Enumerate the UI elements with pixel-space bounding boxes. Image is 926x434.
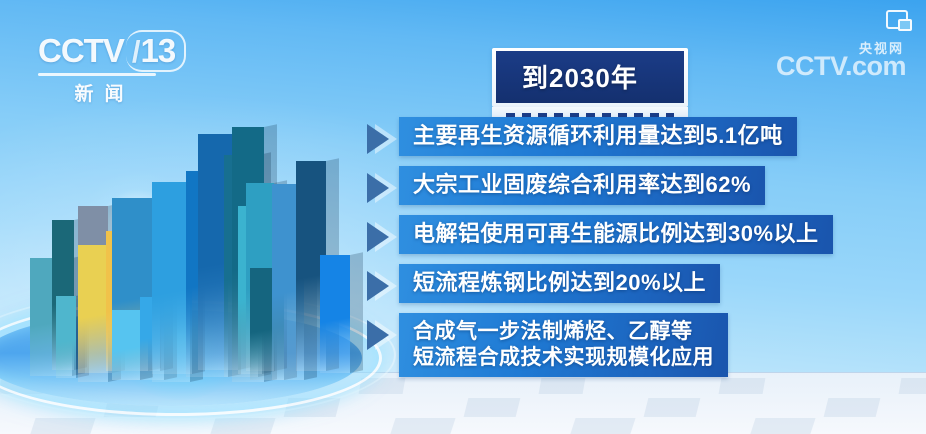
bullet-text: 合成气一步法制烯烃、乙醇等 bbox=[413, 319, 714, 345]
bullet-text: 大宗工业固废综合利用率达到62% bbox=[413, 172, 751, 198]
arrow-right-glyph bbox=[367, 271, 389, 301]
3d-city-graphic bbox=[0, 150, 400, 434]
bullet-row[interactable]: 主要再生资源循环利用量达到5.1亿吨 bbox=[363, 117, 903, 160]
bullet-row[interactable]: 合成气一步法制烯烃、乙醇等短流程合成技术实现规模化应用 bbox=[363, 313, 903, 377]
cctv-com-wordmark: CCTV.com bbox=[776, 51, 906, 82]
bullet-row[interactable]: 短流程炼钢比例达到20%以上 bbox=[363, 264, 903, 307]
floor-tile bbox=[748, 418, 815, 434]
arrow-right-glyph bbox=[367, 173, 389, 203]
building-side bbox=[350, 252, 363, 373]
bullet-row[interactable]: 电解铝使用可再生能源比例达到30%以上 bbox=[363, 215, 903, 258]
logo-underline bbox=[38, 73, 156, 76]
bullet-bar[interactable]: 短流程炼钢比例达到20%以上 bbox=[399, 264, 720, 303]
title-banner: 到2030年 bbox=[492, 48, 688, 120]
bullet-text: 主要再生资源循环利用量达到5.1亿吨 bbox=[413, 123, 783, 149]
channel-subtitle: 新闻 bbox=[38, 79, 160, 106]
banner-title: 到2030年 bbox=[522, 58, 658, 95]
cctv13-channel-logo: CCTV /13 新闻 bbox=[38, 30, 198, 96]
cctv13-logo-mark: CCTV /13 bbox=[38, 30, 198, 72]
arrow-right-glyph bbox=[367, 124, 389, 154]
building-block bbox=[56, 296, 76, 378]
floor-tile bbox=[644, 398, 701, 417]
building-block bbox=[320, 255, 350, 373]
building-block bbox=[112, 310, 140, 380]
bullet-bar[interactable]: 电解铝使用可再生能源比例达到30%以上 bbox=[399, 215, 833, 254]
building-block bbox=[152, 182, 190, 382]
building-face bbox=[320, 255, 350, 373]
cctv-com-logo: 央视网 CCTV.com bbox=[776, 38, 906, 82]
arrow-right-icon bbox=[363, 265, 399, 307]
bullet-bar[interactable]: 大宗工业固废综合利用率达到62% bbox=[399, 166, 765, 205]
bullet-text: 短流程合成技术实现规模化应用 bbox=[413, 345, 714, 371]
arrow-right-icon bbox=[363, 167, 399, 209]
pip-inner-frame bbox=[898, 19, 912, 31]
banner-frame: 到2030年 bbox=[492, 48, 688, 107]
cctv-wordmark: CCTV bbox=[38, 32, 124, 70]
bullet-bar[interactable]: 合成气一步法制烯烃、乙醇等短流程合成技术实现规模化应用 bbox=[399, 313, 728, 377]
picture-in-picture-icon[interactable] bbox=[886, 10, 912, 31]
logo-slash: / bbox=[132, 34, 140, 69]
arrow-right-icon bbox=[363, 118, 399, 160]
building-face bbox=[152, 182, 190, 382]
channel-number: 13 bbox=[140, 32, 175, 69]
building-face bbox=[56, 296, 76, 378]
floor-tile bbox=[464, 398, 521, 417]
channel-number-badge: /13 bbox=[126, 30, 186, 72]
building-face bbox=[112, 310, 140, 380]
arrow-right-icon bbox=[363, 216, 399, 258]
broadcast-graphic-screen: CCTV /13 新闻 央视网 CCTV.com 到2030年 主要再生资源循环… bbox=[0, 0, 926, 434]
bullet-bar[interactable]: 主要再生资源循环利用量达到5.1亿吨 bbox=[399, 117, 797, 156]
arrow-right-glyph bbox=[367, 320, 389, 350]
floor-tile bbox=[568, 418, 635, 434]
bullet-text: 电解铝使用可再生能源比例达到30%以上 bbox=[413, 221, 819, 247]
floor-tile bbox=[824, 398, 881, 417]
bullet-row[interactable]: 大宗工业固废综合利用率达到62% bbox=[363, 166, 903, 209]
arrow-right-glyph bbox=[367, 222, 389, 252]
bullet-list: 主要再生资源循环利用量达到5.1亿吨大宗工业固废综合利用率达到62%电解铝使用可… bbox=[363, 117, 903, 383]
bullet-text: 短流程炼钢比例达到20%以上 bbox=[413, 270, 706, 296]
banner-inner: 到2030年 bbox=[496, 51, 684, 103]
arrow-right-icon bbox=[363, 314, 399, 356]
